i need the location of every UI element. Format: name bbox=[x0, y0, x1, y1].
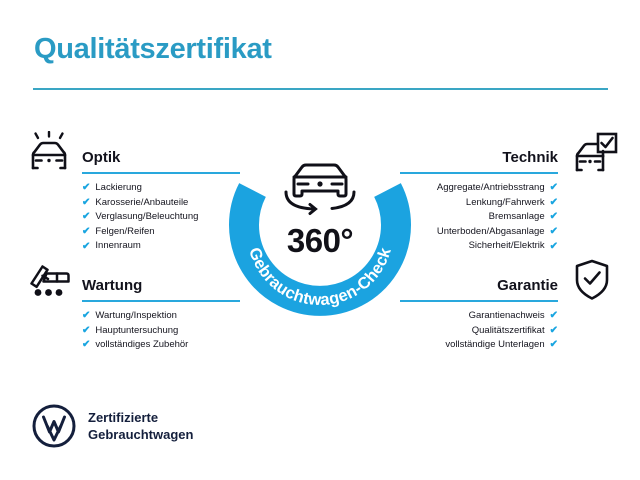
list-item: ✔vollständiges Zubehör bbox=[82, 338, 240, 353]
section-wartung: Wartung ✔Wartung/Inspektion ✔Hauptunters… bbox=[82, 268, 240, 353]
list-item: ✔Hauptuntersuchung bbox=[82, 324, 240, 339]
footer-brand: Zertifizierte Gebrauchtwagen bbox=[32, 404, 193, 448]
car-front-checkbox-icon bbox=[570, 131, 618, 180]
section-garantie-divider bbox=[400, 300, 558, 302]
check-icon: ✔ bbox=[550, 340, 558, 350]
vw-brand-line1: Zertifizierte bbox=[88, 409, 193, 426]
list-item: ✔Bremsanlage bbox=[400, 210, 558, 225]
badge-360-check: Gebrauchtwagen-Check bbox=[224, 128, 416, 320]
list-item-label: Innenraum bbox=[95, 239, 140, 254]
list-item-label: Qualitätszertifikat bbox=[472, 324, 545, 339]
list-item-label: Verglasung/Beleuchtung bbox=[95, 210, 198, 225]
list-item: ✔Verglasung/Beleuchtung bbox=[82, 210, 240, 225]
section-garantie-list: ✔Garantienachweis ✔Qualitätszertifikat ✔… bbox=[400, 309, 558, 353]
section-optik-header: Optik bbox=[82, 140, 240, 174]
section-optik-title: Optik bbox=[82, 149, 120, 166]
list-item: ✔Lenkung/Fahrwerk bbox=[400, 196, 558, 211]
list-item: ✔Sicherheit/Elektrik bbox=[400, 239, 558, 254]
list-item-label: Garantienachweis bbox=[469, 309, 545, 324]
list-item-label: vollständiges Zubehör bbox=[95, 338, 188, 353]
list-item: ✔Garantienachweis bbox=[400, 309, 558, 324]
certificate-page: Qualitätszertifikat bbox=[0, 0, 640, 480]
section-optik-divider bbox=[82, 172, 240, 174]
list-item-label: vollständige Unterlagen bbox=[445, 338, 544, 353]
list-item: ✔Karosserie/Anbauteile bbox=[82, 196, 240, 211]
section-technik-header: Technik bbox=[400, 140, 558, 174]
check-icon: ✔ bbox=[82, 212, 90, 222]
section-technik: Technik ✔Aggregate/Antriebsstrang ✔Lenku… bbox=[400, 140, 558, 254]
shield-check-icon bbox=[574, 259, 610, 306]
list-item-label: Wartung/Inspektion bbox=[95, 309, 177, 324]
section-garantie-header: Garantie bbox=[400, 268, 558, 302]
list-item-label: Karosserie/Anbauteile bbox=[95, 196, 188, 211]
check-icon: ✔ bbox=[82, 242, 90, 252]
section-technik-list: ✔Aggregate/Antriebsstrang ✔Lenkung/Fahrw… bbox=[400, 181, 558, 254]
list-item-label: Sicherheit/Elektrik bbox=[469, 239, 545, 254]
section-wartung-title: Wartung bbox=[82, 277, 142, 294]
list-item: ✔Lackierung bbox=[82, 181, 240, 196]
check-icon: ✔ bbox=[82, 326, 90, 336]
list-item-label: Hauptuntersuchung bbox=[95, 324, 178, 339]
check-icon: ✔ bbox=[550, 212, 558, 222]
check-icon: ✔ bbox=[550, 227, 558, 237]
list-item: ✔Wartung/Inspektion bbox=[82, 309, 240, 324]
vw-logo-icon bbox=[32, 404, 76, 448]
section-garantie-title: Garantie bbox=[497, 277, 558, 294]
section-wartung-header: Wartung bbox=[82, 268, 240, 302]
list-item-label: Unterboden/Abgasanlage bbox=[437, 225, 545, 240]
check-icon: ✔ bbox=[82, 311, 90, 321]
list-item: ✔vollständige Unterlagen bbox=[400, 338, 558, 353]
car-service-pen-icon bbox=[26, 259, 72, 306]
title-divider bbox=[33, 88, 608, 90]
check-icon: ✔ bbox=[82, 340, 90, 350]
car-front-shine-icon bbox=[26, 131, 72, 178]
list-item: ✔Felgen/Reifen bbox=[82, 225, 240, 240]
list-item-label: Aggregate/Antriebsstrang bbox=[437, 181, 545, 196]
badge-degrees: 360° bbox=[224, 222, 416, 260]
list-item: ✔Unterboden/Abgasanlage bbox=[400, 225, 558, 240]
vw-brand-line2: Gebrauchtwagen bbox=[88, 426, 193, 443]
section-garantie: Garantie ✔Garantienachweis ✔Qualitätszer… bbox=[400, 268, 558, 353]
section-optik-list: ✔Lackierung ✔Karosserie/Anbauteile ✔Verg… bbox=[82, 181, 240, 254]
list-item: ✔Aggregate/Antriebsstrang bbox=[400, 181, 558, 196]
check-icon: ✔ bbox=[550, 311, 558, 321]
list-item: ✔Innenraum bbox=[82, 239, 240, 254]
page-title: Qualitätszertifikat bbox=[34, 32, 272, 66]
list-item-label: Bremsanlage bbox=[489, 210, 545, 225]
section-wartung-divider bbox=[82, 300, 240, 302]
check-icon: ✔ bbox=[550, 326, 558, 336]
vw-brand-text: Zertifizierte Gebrauchtwagen bbox=[88, 409, 193, 443]
check-icon: ✔ bbox=[550, 183, 558, 193]
section-technik-title: Technik bbox=[502, 149, 558, 166]
check-icon: ✔ bbox=[550, 242, 558, 252]
section-technik-divider bbox=[400, 172, 558, 174]
list-item-label: Lackierung bbox=[95, 181, 141, 196]
list-item-label: Lenkung/Fahrwerk bbox=[466, 196, 545, 211]
check-icon: ✔ bbox=[82, 183, 90, 193]
list-item-label: Felgen/Reifen bbox=[95, 225, 154, 240]
check-icon: ✔ bbox=[82, 227, 90, 237]
section-wartung-list: ✔Wartung/Inspektion ✔Hauptuntersuchung ✔… bbox=[82, 309, 240, 353]
list-item: ✔Qualitätszertifikat bbox=[400, 324, 558, 339]
section-optik: Optik ✔Lackierung ✔Karosserie/Anbauteile… bbox=[82, 140, 240, 254]
check-icon: ✔ bbox=[82, 198, 90, 208]
check-icon: ✔ bbox=[550, 198, 558, 208]
